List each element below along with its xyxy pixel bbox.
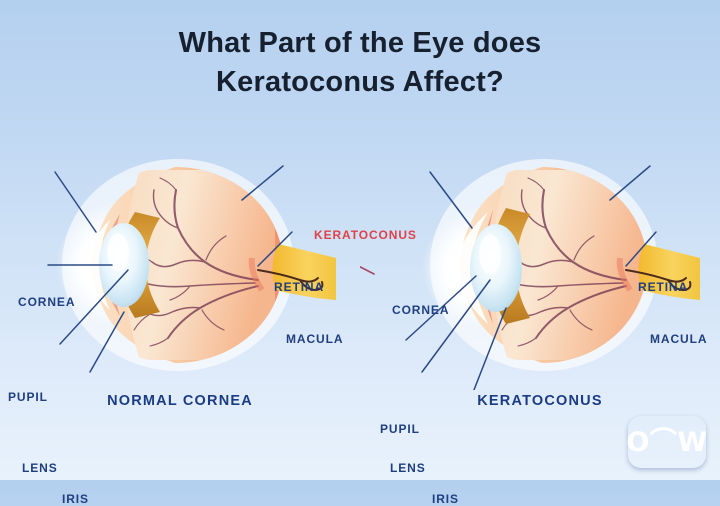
normal-eye-illustration: [0, 140, 360, 390]
diagram-keratoconus-eye: CORNEA RETINA MACULA KERATOCONUS PUPIL L…: [360, 140, 720, 430]
label-macula: MACULA: [650, 332, 707, 346]
label-lens: LENS: [22, 461, 58, 475]
label-iris: IRIS: [62, 492, 89, 506]
logo-wordmark: O⌒W: [626, 429, 707, 456]
label-iris: IRIS: [432, 492, 459, 506]
label-retina: RETINA: [274, 280, 324, 294]
label-cornea: CORNEA: [18, 295, 75, 309]
lens-highlight: [479, 234, 501, 274]
label-pupil: PUPIL: [380, 422, 420, 436]
caption-keratoconus: KERATOCONUS: [360, 393, 720, 409]
label-retina: RETINA: [638, 280, 688, 294]
label-lens: LENS: [390, 461, 426, 475]
diagram-normal-eye: CORNEA RETINA MACULA PUPIL LENS IRIS NOR…: [0, 140, 360, 430]
keratoconus-eye-illustration: [360, 140, 720, 390]
label-macula: MACULA: [286, 332, 343, 346]
page-title: What Part of the Eye does Keratoconus Af…: [0, 24, 720, 102]
infographic-canvas: What Part of the Eye does Keratoconus Af…: [0, 0, 720, 480]
label-keratoconus: KERATOCONUS: [314, 228, 417, 242]
title-line-1: What Part of the Eye does: [179, 27, 542, 59]
label-cornea: CORNEA: [392, 303, 449, 317]
leader-keratoconus: [360, 240, 374, 274]
caption-normal-cornea: NORMAL CORNEA: [0, 393, 360, 409]
brand-logo[interactable]: O⌒W: [628, 416, 706, 468]
title-line-2: Keratoconus Affect?: [0, 63, 720, 102]
